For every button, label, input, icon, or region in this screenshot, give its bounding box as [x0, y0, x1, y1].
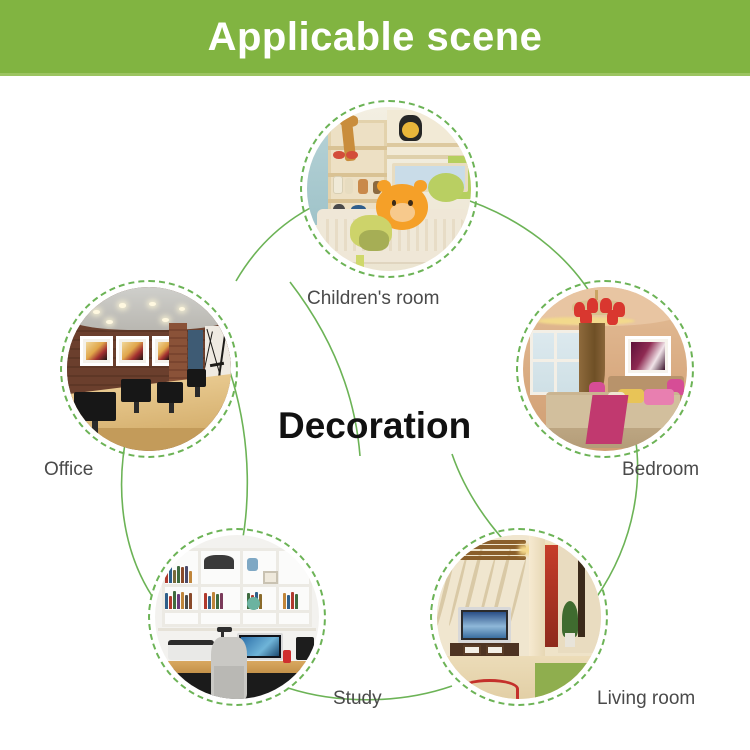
label-study: Study — [333, 688, 382, 710]
center-title: Decoration — [278, 405, 471, 447]
bedroom-circle[interactable] — [516, 280, 694, 458]
page-title: Applicable scene — [208, 17, 543, 57]
header-banner: Applicable scene — [0, 0, 750, 73]
label-children-room: Children's room — [307, 288, 439, 310]
study-circle[interactable] — [148, 528, 326, 706]
applicable-scene-infographic: Applicable scene — [0, 0, 750, 750]
living-room-photo — [437, 535, 601, 699]
living-room-circle[interactable] — [430, 528, 608, 706]
study-photo — [155, 535, 319, 699]
label-bedroom: Bedroom — [622, 459, 699, 481]
office-photo — [67, 287, 231, 451]
children-room-photo — [307, 107, 471, 271]
children-room-circle[interactable] — [300, 100, 478, 278]
label-living-room: Living room — [597, 688, 695, 710]
label-office: Office — [44, 459, 93, 481]
diagram-stage: Children's room — [0, 76, 750, 750]
bedroom-photo — [523, 287, 687, 451]
office-circle[interactable] — [60, 280, 238, 458]
